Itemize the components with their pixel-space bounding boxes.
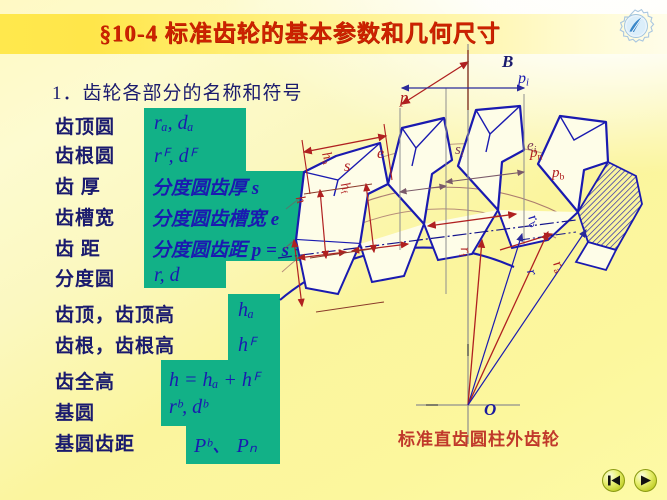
label-e: e (377, 145, 384, 163)
symbol-tooth-thickness: 分度圆齿厚 s (152, 173, 259, 200)
symbol-ha: hₐ (238, 299, 254, 322)
label-si: si (455, 142, 464, 160)
section-heading: 1．齿轮各部分的名称和符号 (52, 78, 303, 105)
label-s: s (344, 158, 350, 176)
previous-slide-button[interactable] (602, 469, 625, 492)
label-pb: pb (552, 165, 564, 183)
term-label-space-width: 齿槽宽 (55, 203, 115, 230)
label-pi: pi (518, 70, 529, 89)
next-slide-button[interactable] (634, 469, 657, 492)
label-p: p (400, 88, 409, 108)
label-pn: pn (530, 145, 542, 163)
term-label-tip-circle: 齿顶圆 (55, 112, 115, 139)
symbol-r-d: r, d (154, 264, 180, 287)
term-label-dedendum: 齿根，齿根高 (55, 331, 175, 358)
term-label-base-circle: 基圆 (55, 398, 95, 425)
term-label-pitch: 齿 距 (55, 234, 101, 261)
symbol-hf: hꟳ (238, 330, 255, 357)
symbol-ra-da: rₐ, dₐ (154, 112, 193, 135)
symbol-pb-pn: Pᵇ、 Pₙ (194, 429, 257, 458)
term-label-tooth-thickness: 齿 厚 (55, 172, 101, 199)
symbol-rb-db: rᵇ, dᵇ (169, 396, 208, 419)
term-label-addendum: 齿顶，齿顶高 (55, 300, 175, 327)
term-label-reference-circle: 分度圆 (55, 264, 115, 291)
navigation-buttons (602, 469, 657, 492)
label-center-O: O (484, 400, 496, 420)
slide-canvas: §10-4 标准齿轮的基本参数和几何尺寸 1．齿轮各部分的名称和符号 齿顶圆 齿… (0, 0, 667, 500)
symbol-rf-df: rꟳ, dꟳ (154, 141, 196, 168)
term-label-root-circle: 齿根圆 (55, 141, 115, 168)
term-label-whole-depth: 齿全高 (55, 367, 115, 394)
label-B: B (502, 52, 513, 72)
symbol-whole-depth: h = hₐ + hꟳ (169, 365, 259, 392)
figure-caption: 标准直齿圆柱外齿轮 (398, 425, 560, 450)
symbol-space-width: 分度圆齿槽宽 e (152, 204, 279, 231)
term-label-base-pitch: 基圆齿距 (55, 429, 135, 456)
